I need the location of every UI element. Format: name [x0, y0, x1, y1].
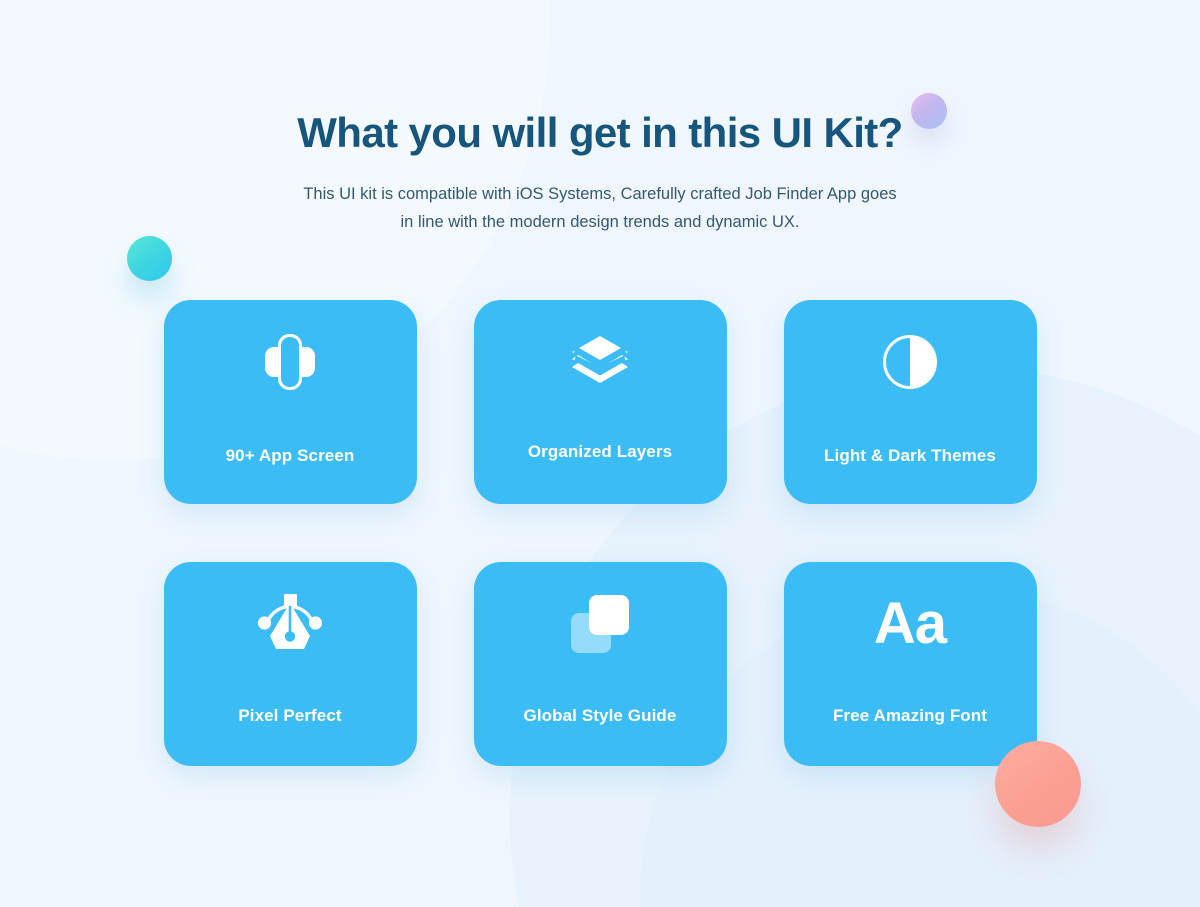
- page-header: What you will get in this UI Kit? This U…: [0, 0, 1200, 236]
- page-title: What you will get in this UI Kit?: [0, 108, 1200, 158]
- feature-card-light-dark-themes[interactable]: Light & Dark Themes: [784, 300, 1037, 504]
- feature-card-grid: 90+ App Screen Organized Layers Light & …: [0, 300, 1200, 766]
- half-circle-contrast-icon: [881, 308, 939, 416]
- phone-device-icon: [259, 308, 321, 416]
- coral-accent-circle: [995, 741, 1081, 827]
- feature-card-free-amazing-font[interactable]: Aa Free Amazing Font: [784, 562, 1037, 766]
- feature-card-label: Global Style Guide: [524, 706, 677, 726]
- page-subtitle-line-2: in line with the modern design trends an…: [270, 208, 930, 236]
- feature-card-label: Pixel Perfect: [238, 706, 341, 726]
- teal-accent-circle: [127, 236, 172, 281]
- feature-card-label: 90+ App Screen: [226, 446, 355, 466]
- feature-card-label: Free Amazing Font: [833, 706, 987, 726]
- feature-card-label: Light & Dark Themes: [824, 446, 996, 466]
- pen-tool-icon: [257, 570, 323, 678]
- page-subtitle-line-1: This UI kit is compatible with iOS Syste…: [270, 180, 930, 208]
- feature-card-app-screen[interactable]: 90+ App Screen: [164, 300, 417, 504]
- page-subtitle: This UI kit is compatible with iOS Syste…: [270, 180, 930, 237]
- layers-stack-icon: [569, 308, 631, 416]
- aa-typography-icon: Aa: [874, 570, 946, 678]
- feature-card-pixel-perfect[interactable]: Pixel Perfect: [164, 562, 417, 766]
- feature-card-organized-layers[interactable]: Organized Layers: [474, 300, 727, 504]
- aa-glyph-text: Aa: [874, 595, 946, 653]
- overlapping-squares-icon: [569, 570, 631, 678]
- purple-accent-circle: [911, 93, 947, 129]
- feature-card-global-style-guide[interactable]: Global Style Guide: [474, 562, 727, 766]
- feature-card-label: Organized Layers: [528, 442, 672, 462]
